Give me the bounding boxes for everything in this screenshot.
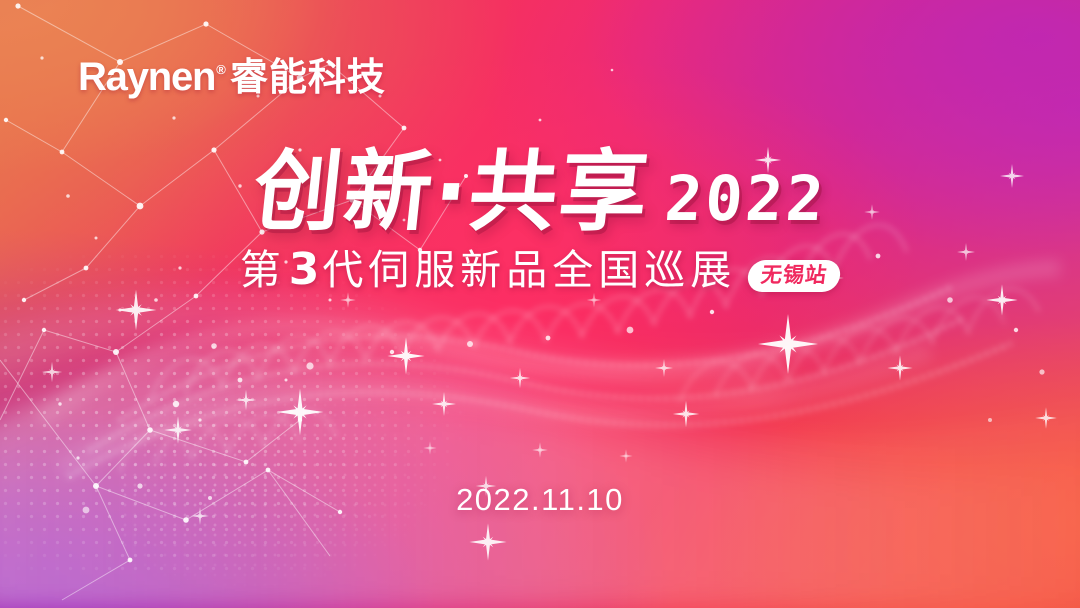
subtitle-text: 代伺服新品全国巡展 [322, 250, 736, 291]
page-title: 创新·共享 [249, 148, 654, 236]
brand-logo: Raynen ® 睿能科技 [78, 46, 386, 101]
logo-wordmark: Raynen [78, 55, 215, 100]
title-block: 创新·共享 2022 第 3 代伺服新品全国巡展 无锡站 [0, 148, 1080, 292]
event-date: 2022.11.10 [0, 482, 1080, 518]
subtitle-prefix: 第 [240, 250, 286, 291]
subtitle-generation-number: 3 [286, 248, 323, 292]
promotional-banner: Raynen ® 睿能科技 创新·共享 2022 第 3 代伺服新品全国巡展 无… [0, 0, 1080, 608]
subtitle-row: 第 3 代伺服新品全国巡展 无锡站 [0, 248, 1080, 292]
logo-chinese-name: 睿能科技 [230, 46, 386, 101]
status-badge: 无锡站 [746, 260, 842, 292]
title-year: 2022 [663, 168, 829, 230]
registered-trademark-icon: ® [216, 62, 226, 77]
main-title-row: 创新·共享 2022 [0, 148, 1080, 236]
